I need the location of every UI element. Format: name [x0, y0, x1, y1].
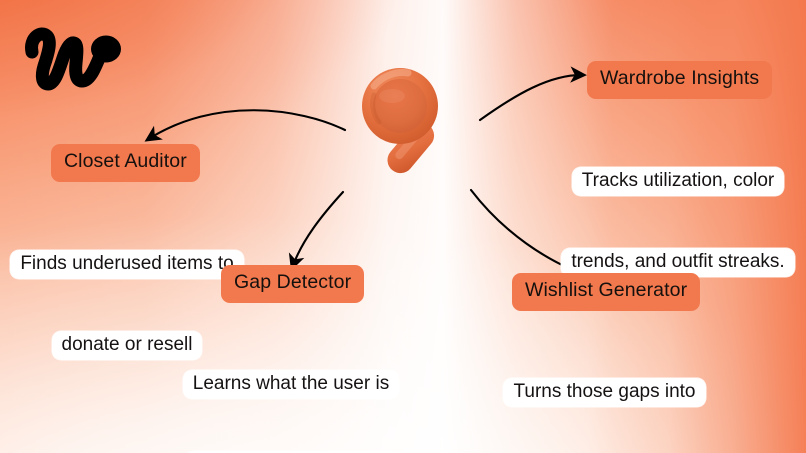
desc-line: Finds underused items to	[10, 250, 243, 279]
desc-line: Turns those gaps into	[503, 378, 705, 407]
node-pill-wishlist-generator[interactable]: Wishlist Generator	[512, 273, 700, 311]
node-pill-wardrobe-insights[interactable]: Wardrobe Insights	[587, 61, 772, 99]
mindmap-canvas: Closet Auditor Finds underused items to …	[0, 0, 806, 453]
desc-line: Learns what the user is	[183, 370, 399, 399]
cursive-w-logo	[14, 22, 122, 98]
magnifying-glass-icon	[352, 62, 460, 184]
node-pill-closet-auditor[interactable]: Closet Auditor	[51, 144, 200, 182]
node-pill-gap-detector[interactable]: Gap Detector	[221, 265, 364, 303]
node-description-wishlist-generator: Turns those gaps into concrete next purc…	[487, 324, 722, 453]
node-description-gap-detector: Learns what the user is missing from war…	[175, 316, 407, 453]
desc-line: Tracks utilization, color	[572, 167, 785, 196]
